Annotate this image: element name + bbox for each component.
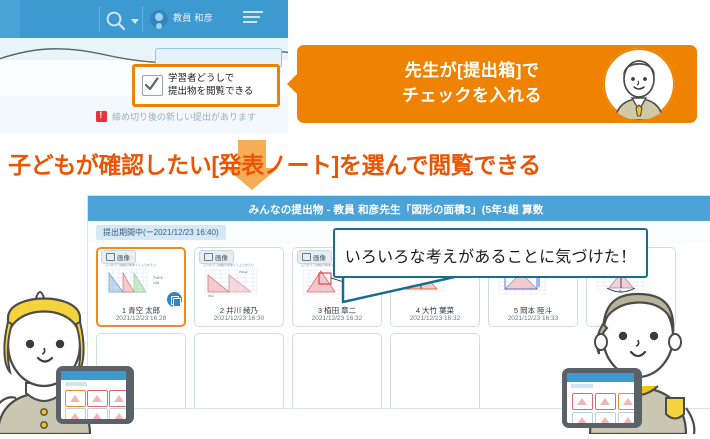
girl-tablet-device (56, 366, 134, 424)
checkbox-label-line2: 提出物を閲覧できる (168, 85, 253, 98)
warning-exclamation-icon (96, 111, 107, 122)
svg-text:7cm: 7cm (208, 294, 214, 298)
tablet-card (65, 390, 86, 407)
teacher-avatar-icon (603, 48, 675, 120)
card-frame (390, 333, 480, 408)
boy-tablet-device (562, 368, 642, 428)
tablet-card (618, 393, 634, 410)
card-frame (292, 333, 382, 408)
card-timestamp: 2021/12/23 16:33 (488, 315, 578, 322)
late-submission-alert-text: 締め切り後の新しい提出があります (112, 110, 256, 123)
submission-card[interactable]: 画像 ふりかえり用紙のめあてとふりかえり 7×4÷2 7cm (194, 247, 284, 327)
checkmark-icon (144, 77, 159, 92)
tablet-card (109, 408, 126, 419)
girl-student-illustration (0, 262, 140, 434)
search-icon (105, 10, 127, 32)
callout-text: 先生が[提出箱]で チェックを入れる (347, 58, 597, 108)
card-frame (194, 333, 284, 408)
shared-view-checkbox-callout[interactable]: 学習者どうしで 提出物を閲覧できる (132, 64, 280, 107)
speech-bubble-tail (341, 276, 461, 306)
card-thumbnail: ふりかえり用紙のめあてとふりかえり 7×4÷2 7cm (199, 259, 278, 303)
tablet-card (65, 408, 86, 419)
chevron-down-icon (131, 19, 139, 24)
late-submission-alert: 締め切り後の新しい提出があります (96, 110, 256, 123)
image-icon (204, 253, 213, 261)
image-icon (106, 253, 115, 261)
hamburger-menu-icon[interactable] (243, 11, 263, 25)
tablet-card (618, 412, 634, 423)
illustration-stage: 教員 和彦 学習者どうしで 提出物を閲覧できる 締め切り後の新しい提出があります (0, 0, 710, 434)
tablet-card (109, 390, 126, 407)
shared-view-checkbox[interactable] (142, 75, 163, 96)
svg-text:7×4÷2: 7×4÷2 (239, 270, 248, 274)
tablet-badge (65, 382, 87, 386)
checkbox-label-line1: 学習者どうしで (168, 72, 253, 85)
tablet-title-bar (567, 373, 634, 382)
tablet-card (595, 393, 616, 410)
search-button[interactable] (105, 8, 147, 32)
tablet-badge (571, 384, 593, 388)
submission-card[interactable] (292, 333, 382, 408)
tablet-card (572, 412, 593, 423)
submission-card[interactable]: 画像 ふりかえり用紙のめあてとふりかえり 7×4÷2 (194, 333, 284, 408)
window-title-bar: みんなの提出物 - 教員 和彦先生「図形の面積3」(5年1組 算数 (88, 196, 710, 221)
card-type-badge: 画像 (199, 250, 234, 264)
card-timestamp: 2021/12/23 16:32 (292, 315, 382, 322)
callout-line1: 先生が[提出箱]で (347, 58, 597, 83)
boy-student-illustration (574, 268, 710, 434)
tablet-title-bar (61, 371, 126, 380)
svg-text:=14: =14 (153, 281, 159, 285)
copy-icon[interactable] (167, 292, 182, 307)
teacher-app-panel: 教員 和彦 学習者どうしで 提出物を閲覧できる 締め切り後の新しい提出があります (0, 0, 288, 134)
image-icon (302, 253, 311, 261)
app-top-bar: 教員 和彦 (0, 0, 288, 38)
card-timestamp: 2021/12/23 16:32 (390, 315, 480, 322)
user-name-label: 教員 和彦 (173, 11, 213, 24)
toolbar-divider-1 (99, 6, 100, 32)
card-type-badge: 画像 (297, 250, 332, 264)
user-avatar-icon[interactable] (150, 10, 168, 28)
svg-text:7×4÷2: 7×4÷2 (153, 276, 163, 280)
tablet-screen (567, 373, 634, 423)
tablet-card (87, 408, 108, 419)
tablet-card (595, 412, 616, 423)
shared-view-checkbox-label: 学習者どうしで 提出物を閲覧できる (168, 72, 253, 98)
callout-line2: チェックを入れる (347, 83, 597, 108)
teacher-instruction-callout: 先生が[提出箱]で チェックを入れる (287, 45, 697, 123)
tablet-card (87, 390, 108, 407)
window-title: みんなの提出物 - 教員 和彦先生「図形の面積3」(5年1組 算数 (88, 202, 704, 217)
speech-bubble-text: いろいろな考えがあることに気づけた！ (333, 243, 648, 267)
card-timestamp: 2021/12/23 16:30 (194, 315, 284, 322)
submission-period-badge: 提出期間中(ー2021/12/23 16:40) (96, 225, 226, 240)
page-title: 子どもが確認したい[発表ノート]を選んで閲覧できる (8, 146, 541, 180)
tablet-screen (61, 371, 126, 419)
submission-card[interactable]: 画像 (390, 333, 480, 408)
tablet-card (572, 393, 593, 410)
